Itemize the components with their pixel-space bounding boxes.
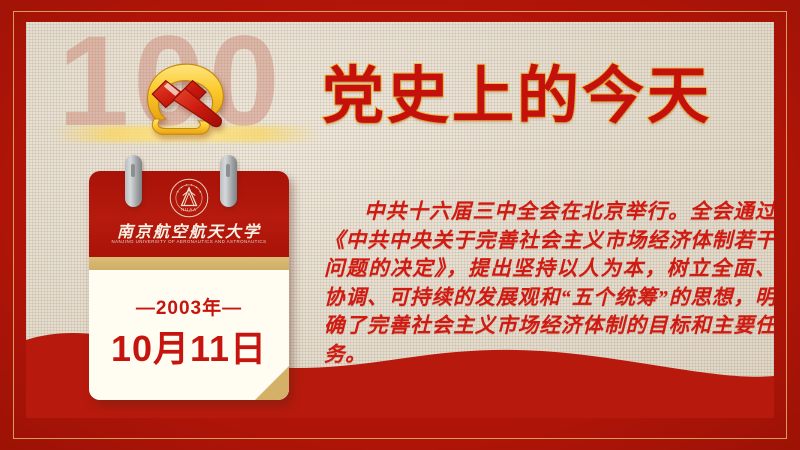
page-fold-icon	[255, 366, 289, 400]
party-history-poster: 100	[0, 0, 800, 450]
calendar-header: NUAA 南京航空航天大学 NANJING UNIVERSITY OF AERO…	[89, 171, 289, 257]
calendar-body: —2003年— 10月11日	[89, 270, 289, 400]
calendar-ring-icon	[125, 155, 142, 207]
calendar-year: —2003年—	[89, 293, 289, 320]
content-panel: 100	[26, 22, 774, 418]
svg-text:NUAA: NUAA	[181, 207, 197, 212]
page-title: 党史上的今天	[322, 66, 712, 128]
nuaa-seal-icon: NUAA	[169, 178, 209, 218]
calendar-card: NUAA 南京航空航天大学 NANJING UNIVERSITY OF AERO…	[89, 171, 289, 400]
calendar-gold-band	[89, 257, 289, 270]
hammer-and-sickle-icon	[124, 50, 242, 142]
university-name-en: NANJING UNIVERSITY OF AERONAUTICS AND AS…	[89, 239, 289, 244]
date-calendar: NUAA 南京航空航天大学 NANJING UNIVERSITY OF AERO…	[89, 155, 304, 400]
calendar-ring-icon	[220, 155, 237, 207]
calendar-date: 10月11日	[89, 320, 289, 372]
